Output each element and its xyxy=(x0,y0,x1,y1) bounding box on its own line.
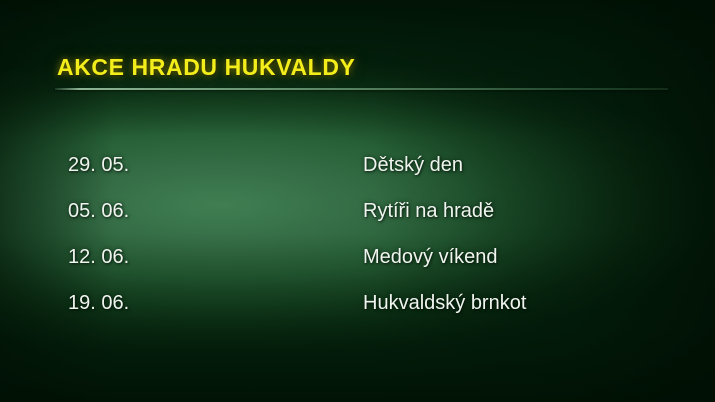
event-name: Hukvaldský brnkot xyxy=(363,292,526,315)
event-name: Rytíři na hradě xyxy=(363,200,494,223)
schedule-row: 19. 06.Hukvaldský brnkot xyxy=(0,292,715,338)
event-name: Dětský den xyxy=(363,154,463,177)
page-title: AKCE HRADU HUKVALDY xyxy=(57,54,355,81)
schedule-row: 05. 06.Rytíři na hradě xyxy=(0,200,715,246)
schedule-row: 12. 06.Medový víkend xyxy=(0,246,715,292)
event-name: Medový víkend xyxy=(363,246,498,269)
event-date: 29. 05. xyxy=(68,154,129,177)
title-divider xyxy=(55,88,668,90)
schedule-list: 29. 05.Dětský den05. 06.Rytíři na hradě1… xyxy=(0,154,715,338)
schedule-row: 29. 05.Dětský den xyxy=(0,154,715,200)
event-date: 12. 06. xyxy=(68,246,129,269)
broadcast-info-panel: AKCE HRADU HUKVALDY 29. 05.Dětský den05.… xyxy=(0,0,715,402)
event-date: 05. 06. xyxy=(68,200,129,223)
event-date: 19. 06. xyxy=(68,292,129,315)
panel-content: AKCE HRADU HUKVALDY 29. 05.Dětský den05.… xyxy=(0,0,715,402)
